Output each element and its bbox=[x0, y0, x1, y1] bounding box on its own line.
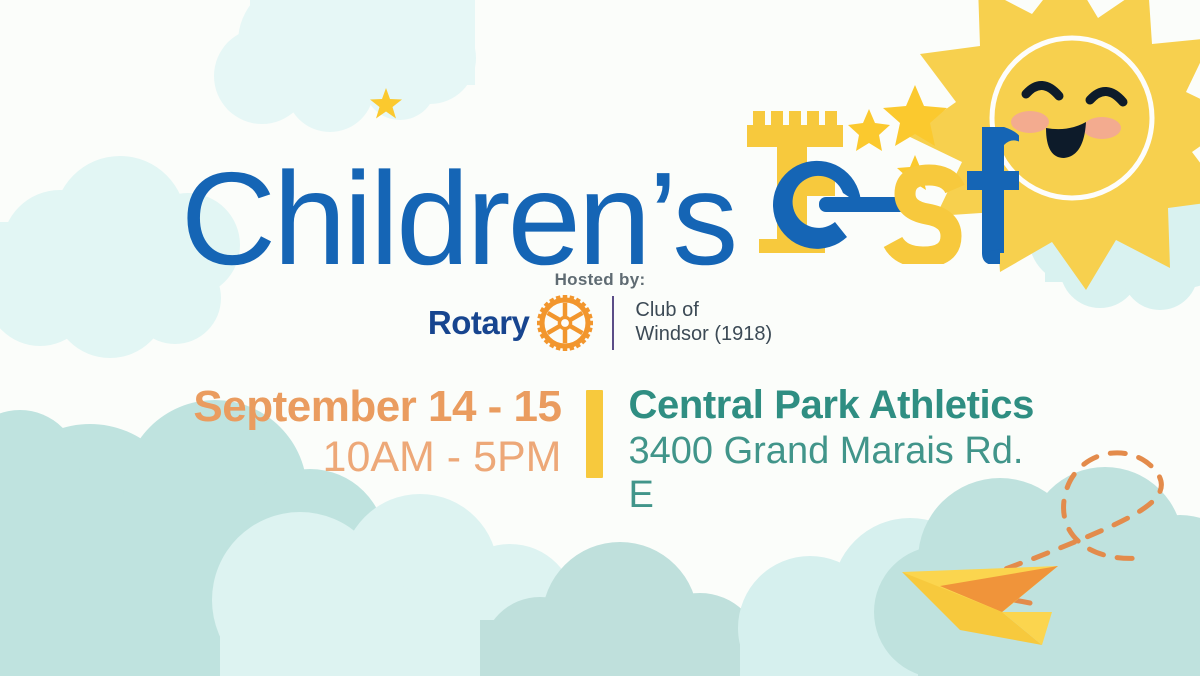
date-time-group: September 14 - 15 10AM - 5PM bbox=[142, 383, 586, 481]
rotary-club-name: Club of Windsor (1918) bbox=[635, 299, 772, 346]
poster-canvas: Children’s bbox=[0, 0, 1200, 676]
hosted-by-block: Hosted by: Rotary bbox=[0, 270, 1200, 351]
plane-body bbox=[902, 566, 1058, 645]
event-address: 3400 Grand Marais Rd. E bbox=[629, 430, 1059, 517]
event-venue: Central Park Athletics bbox=[629, 383, 1059, 427]
event-date: September 14 - 15 bbox=[142, 383, 562, 431]
rotary-wordmark: Rotary bbox=[428, 304, 530, 342]
hosted-by-label: Hosted by: bbox=[0, 270, 1200, 290]
details-divider-bar bbox=[586, 390, 603, 478]
rotary-logo-row: Rotary bbox=[0, 295, 1200, 351]
club-line-2: Windsor (1918) bbox=[635, 323, 772, 347]
venue-group: Central Park Athletics 3400 Grand Marais… bbox=[603, 383, 1059, 517]
event-details: September 14 - 15 10AM - 5PM Central Par… bbox=[0, 383, 1200, 517]
rotary-wheel-icon bbox=[537, 295, 593, 351]
rotary-divider bbox=[612, 296, 614, 350]
club-line-1: Club of bbox=[635, 299, 772, 323]
event-time: 10AM - 5PM bbox=[142, 433, 562, 481]
